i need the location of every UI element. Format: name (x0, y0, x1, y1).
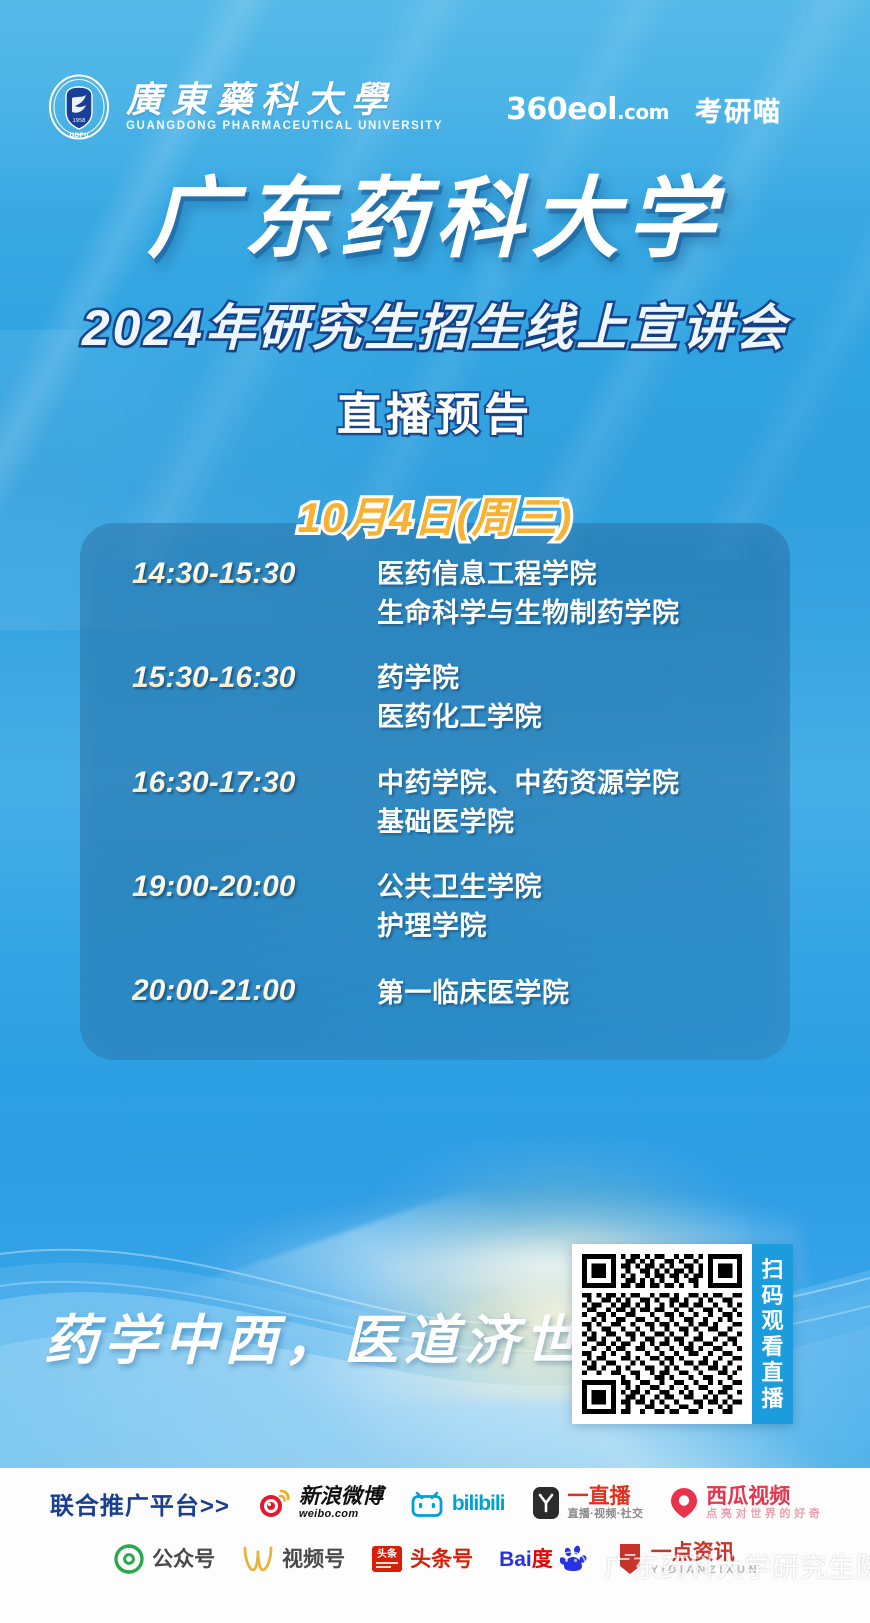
brand-360eol-suffix: .com (617, 100, 669, 124)
svg-text:头条: 头条 (377, 1547, 398, 1560)
poster-root: 1958 GDPU 廣東藥科大學 GUANGDONG PHARMACEUTICA… (0, 0, 870, 1623)
schedule-panel: 14:30-15:30 医药信息工程学院 生命科学与生物制药学院 15:30-1… (80, 523, 790, 1060)
platform-yizhibo[interactable]: 一直播直播·视频·社交 (531, 1486, 644, 1520)
platform-yidian-sub: Y I D I A N Z I X U N (651, 1565, 757, 1576)
footer-promotion-platforms: 联合推广平台>> 新浪微博weibo.com (0, 1468, 870, 1623)
schedule-colleges: 药学院 医药化工学院 (377, 659, 790, 737)
schedule-college-line: 护理学院 (377, 907, 790, 946)
platform-baidu[interactable]: Bai度 (499, 1544, 590, 1574)
qr-side-char: 扫 (761, 1258, 783, 1282)
qr-side-char: 观 (761, 1309, 783, 1333)
platform-yizhibo-name: 一直播 (568, 1485, 631, 1508)
schedule-colleges: 医药信息工程学院 生命科学与生物制药学院 (377, 555, 790, 633)
university-name-en: GUANGDONG PHARMACEUTICAL UNIVERSITY (126, 120, 443, 132)
platform-wechat-channels[interactable]: 视频号 (241, 1543, 345, 1575)
svg-text:一: 一 (624, 1549, 635, 1562)
schedule-time: 20:00-21:00 (132, 972, 377, 1010)
platform-weibo-name: 新浪微博 (299, 1485, 383, 1508)
platform-baidu-suffix: 度 (532, 1548, 553, 1571)
platform-xigua-sub: 点 亮 对 世 界 的 好 奇 (706, 1509, 820, 1520)
schedule-row: 19:00-20:00 公共卫生学院 护理学院 (80, 868, 790, 946)
platform-wechat-official-label: 公众号 (152, 1549, 215, 1570)
schedule-row: 20:00-21:00 第一临床医学院 (80, 972, 790, 1013)
schedule-college-line: 医药化工学院 (377, 698, 790, 737)
qr-card (572, 1244, 752, 1424)
schedule-time: 19:00-20:00 (132, 868, 377, 906)
platform-yizhibo-label: 一直播直播·视频·社交 (568, 1486, 644, 1520)
poster-header: 1958 GDPU 廣東藥科大學 GUANGDONG PHARMACEUTICA… (0, 38, 870, 118)
qr-side-char: 播 (761, 1387, 783, 1411)
qr-code-icon (582, 1254, 742, 1414)
qr-side-char: 码 (761, 1284, 783, 1308)
platform-wechat-channels-label: 视频号 (282, 1549, 345, 1570)
qr-block[interactable]: 扫 码 观 看 直 播 (572, 1244, 793, 1424)
university-name-block: 廣東藥科大學 GUANGDONG PHARMACEUTICAL UNIVERSI… (126, 82, 443, 132)
baidu-paw-icon (560, 1544, 590, 1574)
schedule-college-line: 药学院 (377, 659, 790, 698)
weibo-icon (256, 1488, 292, 1518)
platform-toutiao-label: 头条号 (410, 1549, 473, 1570)
schedule-college-line: 中药学院、中药资源学院 (377, 764, 790, 803)
yidian-icon: 一 (616, 1543, 644, 1575)
schedule-rows: 14:30-15:30 医药信息工程学院 生命科学与生物制药学院 15:30-1… (80, 555, 790, 1035)
svg-text:1958: 1958 (73, 118, 86, 124)
platform-wechat-official[interactable]: 公众号 (113, 1543, 215, 1575)
qr-side-label: 扫 码 观 看 直 播 (752, 1244, 793, 1424)
platform-weibo[interactable]: 新浪微博weibo.com (256, 1486, 383, 1520)
platform-yidian-label: 一点资讯Y I D I A N Z I X U N (651, 1542, 757, 1576)
footer-row-1: 联合推广平台>> 新浪微博weibo.com (0, 1478, 870, 1528)
platform-bilibili-label: bilibili (452, 1493, 505, 1514)
platform-weibo-sub: weibo.com (299, 1509, 383, 1520)
platform-xigua-name: 西瓜视频 (706, 1485, 790, 1508)
platform-yidian-name: 一点资讯 (651, 1541, 735, 1564)
brand-kaoyanmiao: 考研喵 (695, 90, 782, 129)
university-slogan: 药学中西，医道济世 (44, 1296, 584, 1375)
promo-label: 联合推广平台>> (50, 1486, 230, 1521)
schedule-colleges: 公共卫生学院 护理学院 (377, 868, 790, 946)
university-logo: 1958 GDPU 廣東藥科大學 GUANGDONG PHARMACEUTICA… (48, 74, 443, 140)
schedule-college-line: 生命科学与生物制药学院 (377, 594, 790, 633)
bilibili-icon (409, 1488, 445, 1518)
poster-title-sub: 2024年研究生招生线上宣讲会 (0, 298, 870, 358)
schedule-row: 14:30-15:30 医药信息工程学院 生命科学与生物制药学院 (80, 555, 790, 633)
platform-weibo-label: 新浪微博weibo.com (299, 1486, 383, 1520)
platform-toutiao[interactable]: 头条 头条号 (371, 1544, 473, 1574)
xigua-icon (669, 1487, 699, 1519)
wechat-official-icon (113, 1543, 145, 1575)
schedule-time: 16:30-17:30 (132, 764, 377, 802)
schedule-college-line: 第一临床医学院 (377, 974, 790, 1013)
brand-360eol-name: 360eol (506, 92, 617, 127)
schedule-college-line: 基础医学院 (377, 803, 790, 842)
university-crest-icon: 1958 GDPU (48, 74, 110, 140)
platform-bilibili[interactable]: bilibili (409, 1488, 505, 1518)
schedule-row: 16:30-17:30 中药学院、中药资源学院 基础医学院 (80, 764, 790, 842)
schedule-colleges: 中药学院、中药资源学院 基础医学院 (377, 764, 790, 842)
platform-xigua[interactable]: 西瓜视频点 亮 对 世 界 的 好 奇 (669, 1486, 820, 1520)
schedule-date: 10月4日(周三) (0, 484, 870, 545)
platform-xigua-label: 西瓜视频点 亮 对 世 界 的 好 奇 (706, 1486, 820, 1520)
schedule-row: 15:30-16:30 药学院 医药化工学院 (80, 659, 790, 737)
poster-title-third: 直播预告 (0, 378, 870, 443)
platform-baidu-label: Bai度 (499, 1549, 553, 1570)
wechat-channels-icon (241, 1543, 275, 1575)
qr-side-char: 直 (761, 1361, 783, 1385)
platform-yidian[interactable]: 一 一点资讯Y I D I A N Z I X U N (616, 1542, 757, 1576)
schedule-college-line: 医药信息工程学院 (377, 555, 790, 594)
platform-yizhibo-sub: 直播·视频·社交 (568, 1509, 644, 1520)
toutiao-icon: 头条 (371, 1544, 403, 1574)
footer-row-2: 公众号 视频号 头条 头条号 Bai度 (0, 1534, 870, 1584)
schedule-college-line: 公共卫生学院 (377, 868, 790, 907)
schedule-time: 15:30-16:30 (132, 659, 377, 697)
yizhibo-icon (531, 1486, 561, 1520)
schedule-time: 14:30-15:30 (132, 555, 377, 593)
partner-brands: 360eol.com 考研喵 (506, 90, 782, 129)
qr-side-char: 看 (761, 1335, 783, 1359)
schedule-colleges: 第一临床医学院 (377, 972, 790, 1013)
svg-text:GDPU: GDPU (69, 132, 88, 139)
brand-360eol: 360eol.com (506, 92, 669, 127)
poster-title-main: 广东药科大学 (0, 168, 870, 269)
university-name-cn: 廣東藥科大學 (126, 82, 443, 118)
